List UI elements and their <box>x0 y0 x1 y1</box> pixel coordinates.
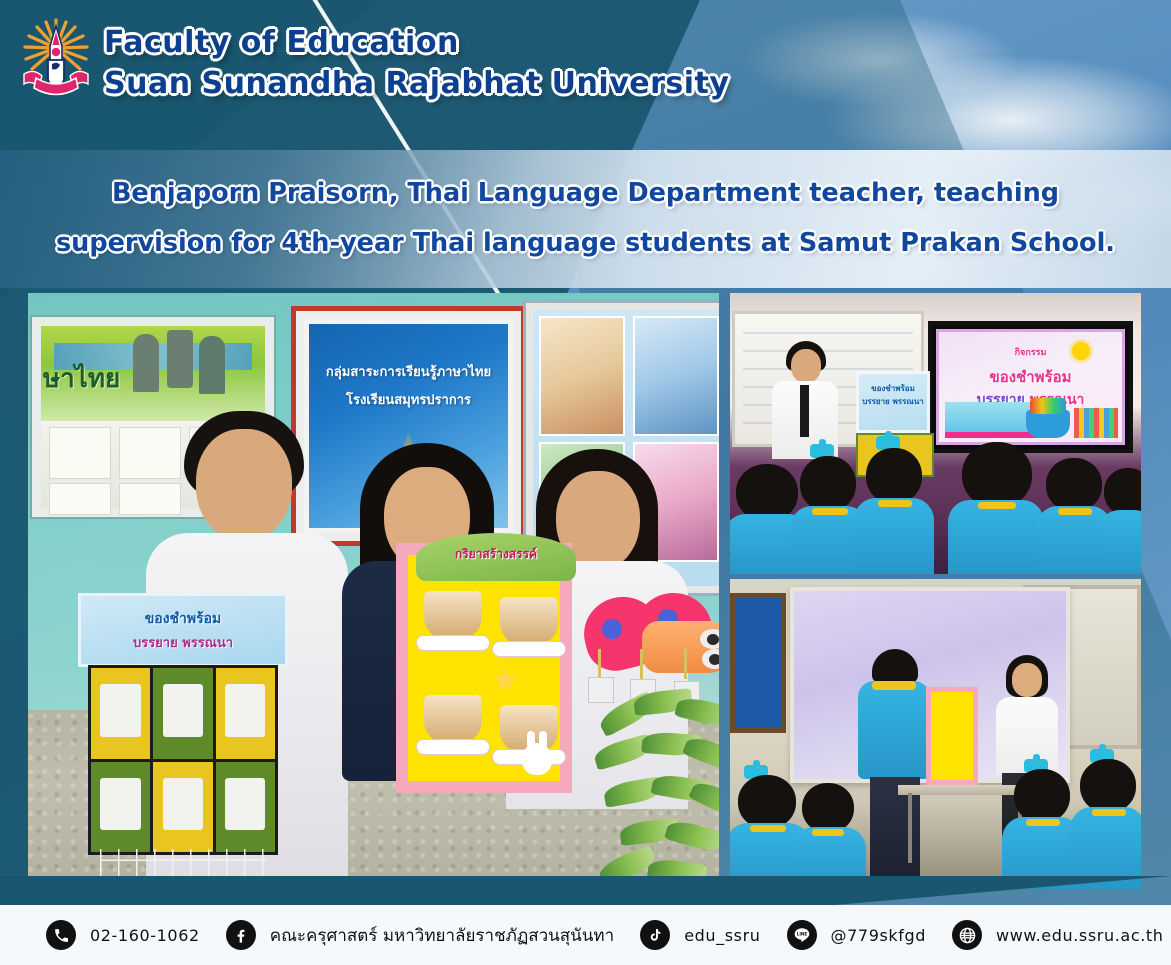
project-poster-on-stand: ของชำพร้อม บรรยาย พรรณนา <box>856 371 930 433</box>
grocery-basket-graphic <box>1026 410 1070 438</box>
yellow-poster-header: กริยาสร้างสรรค์ <box>416 545 576 564</box>
basket-card-3 <box>424 695 482 743</box>
basket-card-2 <box>500 597 558 645</box>
bunny-sticker <box>522 743 552 775</box>
poster-caption: ของชำพร้อม บรรยาย พรรณนา <box>859 382 927 408</box>
contact-phone[interactable]: 02-160-1062 <box>46 920 200 950</box>
blue-banner-line1: ของชำพร้อม <box>81 608 285 630</box>
title-banner: Benjaporn Praisorn, Thai Language Depart… <box>0 150 1171 288</box>
group-photo-teacher-and-students-with-projects: ษาไทย กลุ่มสาระการเรียนรู้ภาษาไทย โรงเรี… <box>28 293 719 889</box>
blue-project-banner: ของชำพร้อม บรรยาย พรรณนา <box>78 593 288 667</box>
star-decoration <box>492 667 518 693</box>
contact-tiktok[interactable]: edu_ssru <box>640 920 760 950</box>
wall-thai-text: ษาไทย <box>43 358 120 399</box>
monument-stone <box>167 330 193 388</box>
facebook-page-name: คณะครุศาสตร์ มหาวิทยาลัยราชภัฏสวนสุนันทา <box>270 922 614 949</box>
screen-line1: กิจกรรม <box>939 345 1122 359</box>
screen-line2: ของชำพร้อม <box>939 365 1122 389</box>
facebook-icon <box>226 920 256 950</box>
sign-line2: โรงเรียนสมุทรปราการ <box>309 389 508 410</box>
tiktok-icon <box>640 920 670 950</box>
headline-line1: Benjaporn Praisorn, Thai Language Depart… <box>112 169 1059 219</box>
contact-facebook[interactable]: คณะครุศาสตร์ มหาวิทยาลัยราชภัฏสวนสุนันทา <box>226 920 614 950</box>
phone-number: 02-160-1062 <box>90 926 200 945</box>
seated-students-row-bottom <box>730 740 1141 889</box>
line-icon: LINE <box>787 920 817 950</box>
website-url: www.edu.ssru.ac.th <box>996 926 1163 945</box>
photo-collage: ษาไทย กลุ่มสาระการเรียนรู้ภาษาไทย โรงเรี… <box>0 292 1171 892</box>
contact-footer: 02-160-1062 คณะครุศาสตร์ มหาวิทยาลัยราชภ… <box>0 905 1171 965</box>
statue-figure <box>133 334 159 392</box>
grocery-shelf-graphic <box>1074 408 1118 438</box>
wall-poster-green: ษาไทย <box>41 326 265 421</box>
classroom-presentation-photo: กิจกรรม ของชำพร้อม บรรยาย พรรณนา ของชำพร… <box>730 293 1141 574</box>
phone-icon <box>46 920 76 950</box>
blue-notice-board <box>730 593 786 733</box>
faculty-title-line1: Faculty of Education <box>104 22 729 63</box>
ssru-royal-emblem-logo <box>18 16 94 102</box>
line-id: @779skfgd <box>831 926 927 945</box>
student-presenting-at-projector-screen-photo <box>730 579 1141 889</box>
blue-banner-line2: บรรยาย พรรณนา <box>81 632 285 653</box>
header: Faculty of Education Suan Sunandha Rajab… <box>0 0 1171 150</box>
yellow-project-poster: กริยาสร้างสรรค์ <box>396 543 572 793</box>
tiktok-handle: edu_ssru <box>684 926 760 945</box>
mini-grocery-shelf-model <box>88 665 278 855</box>
headline-line2: supervision for 4th-year Thai language s… <box>56 219 1115 269</box>
globe-icon <box>952 920 982 950</box>
contact-line[interactable]: LINE @779skfgd <box>787 920 927 950</box>
contact-website[interactable]: www.edu.ssru.ac.th <box>952 920 1163 950</box>
presentation-screen: กิจกรรม ของชำพร้อม บรรยาย พรรณนา <box>928 321 1133 453</box>
svg-text:LINE: LINE <box>796 931 807 936</box>
seated-students-row <box>730 439 1141 574</box>
faculty-title-line2: Suan Sunandha Rajabhat University <box>104 63 729 104</box>
header-title-block: Faculty of Education Suan Sunandha Rajab… <box>104 22 729 105</box>
poster-header-banner: กริยาสร้างสรรค์ <box>416 533 576 581</box>
sign-line1: กลุ่มสาระการเรียนรู้ภาษาไทย <box>309 361 508 382</box>
basket-card-1 <box>424 591 482 639</box>
statue-figure-2 <box>199 336 225 394</box>
poster-canvas: Faculty of Education Suan Sunandha Rajab… <box>0 0 1171 965</box>
potted-plant <box>594 685 719 889</box>
